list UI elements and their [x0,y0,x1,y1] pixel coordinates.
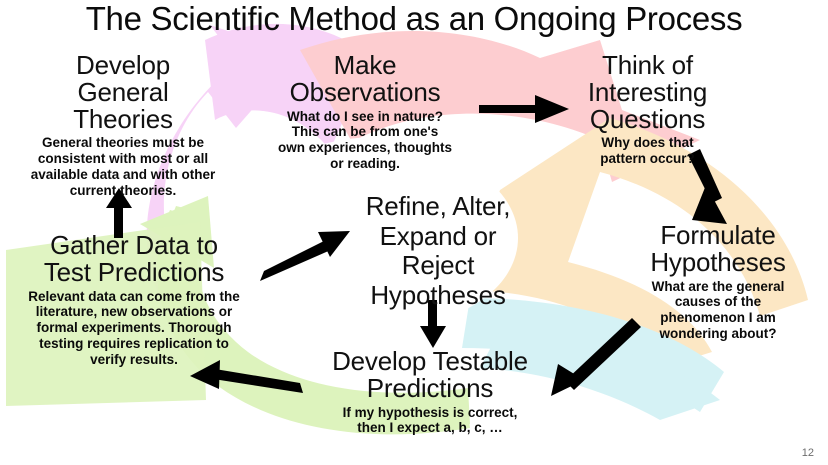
node-body: What are the general causes of the pheno… [612,279,824,342]
node-title: Gather Data to Test Predictions [0,232,268,286]
node-refine-alter-expand-or-reject-hypotheses: Refine, Alter, Expand or Reject Hypothes… [330,192,546,311]
node-formulate-hypotheses: Formulate Hypotheses What are the genera… [612,222,824,342]
node-develop-general-theories: Develop General Theories General theorie… [8,52,238,198]
node-body: Relevant data can come from the literatu… [0,289,268,368]
node-gather-data-to-test-predictions: Gather Data to Test Predictions Relevant… [0,232,268,367]
node-develop-testable-predictions: Develop Testable Predictions If my hypot… [290,348,570,436]
node-title: Make Observations [240,52,490,106]
node-title: Think of Interesting Questions [540,52,755,132]
node-body: What do I see in nature? This can be fro… [240,109,490,172]
node-title: Develop General Theories [8,52,238,132]
node-body: Why does that pattern occur? [540,135,755,167]
page-title: The Scientific Method as an Ongoing Proc… [0,2,828,35]
node-title: Develop Testable Predictions [290,348,570,402]
node-make-observations: Make Observations What do I see in natur… [240,52,490,172]
slide-canvas: The Scientific Method as an Ongoing Proc… [0,0,828,465]
node-body: If my hypothesis is correct, then I expe… [290,405,570,437]
node-title: Refine, Alter, Expand or Reject Hypothes… [330,192,546,311]
node-body: General theories must be consistent with… [8,135,238,198]
node-title: Formulate Hypotheses [612,222,824,276]
node-think-of-interesting-questions: Think of Interesting Questions Why does … [540,52,755,167]
page-number: 12 [802,447,814,459]
